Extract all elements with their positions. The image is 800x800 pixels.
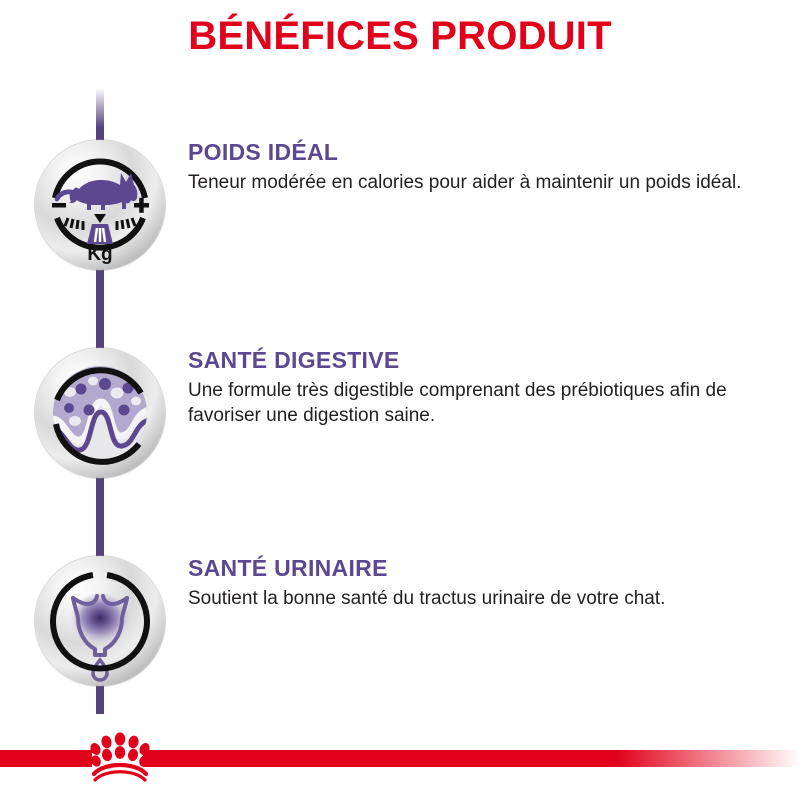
benefit-body: Teneur modérée en calories pour aider à …	[188, 170, 748, 195]
benefit-heading: SANTÉ URINAIRE	[188, 556, 758, 581]
benefit-text-weight: POIDS IDÉAL Teneur modérée en calories p…	[188, 140, 758, 195]
benefit-body: Une formule très digestible comprenant d…	[188, 378, 748, 428]
royal-canin-crown-logo	[88, 730, 152, 782]
minus-sign-icon	[52, 203, 66, 208]
benefit-body: Soutient la bonne santé du tractus urina…	[188, 586, 748, 611]
footer-bar-right	[143, 750, 800, 767]
benefit-row-weight: Kg POIDS IDÉAL Teneur modérée en calorie…	[0, 140, 800, 270]
weight-scale-cat-icon: Kg	[35, 140, 165, 270]
footer-bar-left	[0, 750, 92, 767]
benefit-heading: SANTÉ DIGESTIVE	[188, 348, 758, 373]
benefit-row-urinary: SANTÉ URINAIRE Soutient la bonne santé d…	[0, 556, 800, 686]
digestive-health-icon	[35, 348, 165, 478]
page-title: BÉNÉFICES PRODUIT	[0, 14, 800, 58]
benefit-heading: POIDS IDÉAL	[188, 140, 758, 165]
benefit-text-urinary: SANTÉ URINAIRE Soutient la bonne santé d…	[188, 556, 758, 611]
plus-sign-icon	[134, 198, 149, 213]
urinary-bladder-icon	[35, 556, 165, 686]
product-benefits-page: BÉNÉFICES PRODUIT	[0, 0, 800, 800]
kg-label: Kg	[87, 244, 112, 265]
benefit-row-digestive: SANTÉ DIGESTIVE Une formule très digesti…	[0, 348, 800, 478]
footer	[0, 730, 800, 800]
benefit-text-digestive: SANTÉ DIGESTIVE Une formule très digesti…	[188, 348, 758, 428]
